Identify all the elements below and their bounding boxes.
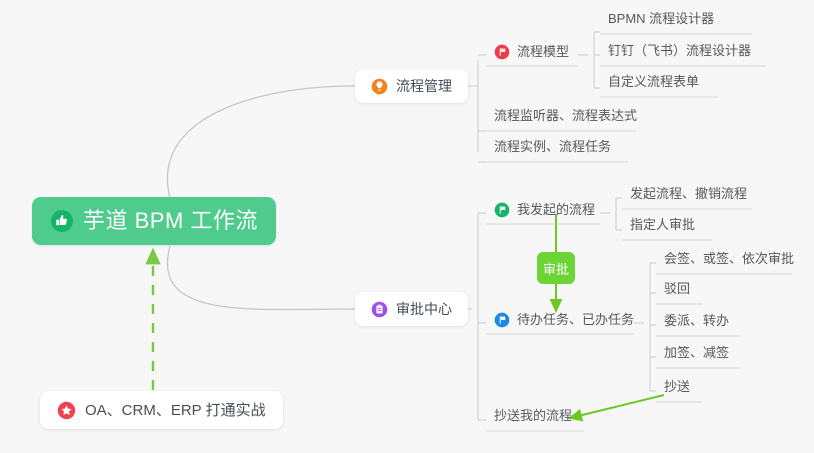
star-icon [57,401,76,420]
branch-node-process-management[interactable]: 流程管理 [355,69,468,103]
clipboard-icon [371,301,388,318]
node-cc-to-me-process[interactable]: 抄送我的流程 [486,409,580,427]
node-bpmn-designer[interactable]: BPMN 流程设计器 [600,12,722,30]
node-process-model[interactable]: 流程模型 [486,44,577,60]
node-label-process-instance-task: 流程实例、流程任务 [494,140,611,154]
node-process-listener-expression[interactable]: 流程监听器、流程表达式 [486,109,645,127]
link-root-to-process-management [167,86,355,198]
node-countersign-orsign-sequential[interactable]: 会签、或签、依次审批 [656,252,802,270]
branch-label-process-management: 流程管理 [396,79,452,93]
bottom-card-label: OA、CRM、ERP 打通实战 [85,403,266,418]
node-label-process-listener-expression: 流程监听器、流程表达式 [494,109,637,123]
node-label-my-initiated-process: 我发起的流程 [517,203,595,217]
node-label-add-remove-sign: 加签、减签 [664,346,729,360]
flag-icon [494,312,510,328]
node-label-dingtalk-feishu-designer: 钉钉（飞书）流程设计器 [608,44,751,58]
node-custom-process-form[interactable]: 自定义流程表单 [600,75,707,93]
node-label-bpmn-designer: BPMN 流程设计器 [608,12,714,26]
node-todo-done-tasks[interactable]: 待办任务、已办任务 [486,312,642,328]
node-label-reject: 驳回 [664,282,690,296]
node-delegate-transfer[interactable]: 委派、转办 [656,314,737,332]
thumbs-up-icon [50,209,74,233]
bottom-card-oa-crm-erp[interactable]: OA、CRM、ERP 打通实战 [40,391,283,429]
root-node[interactable]: 芋道 BPM 工作流 [32,197,276,245]
mindmap-canvas: 芋道 BPM 工作流 流程管理 流程模型 BPMN 流程设计器 钉钉（飞书）流程… [0,0,814,453]
branch-node-approval-center[interactable]: 审批中心 [355,292,468,326]
arrow-cc-to-cc-my-process [570,395,664,418]
node-assignee-approval[interactable]: 指定人审批 [622,218,703,236]
flag-icon [494,44,510,60]
node-process-instance-task[interactable]: 流程实例、流程任务 [486,140,619,158]
node-add-remove-sign[interactable]: 加签、减签 [656,346,737,364]
node-cc[interactable]: 抄送 [656,380,698,398]
flag-icon [494,202,510,218]
node-label-cc-to-me-process: 抄送我的流程 [494,409,572,423]
link-pm-spine [472,60,478,152]
node-dingtalk-feishu-designer[interactable]: 钉钉（飞书）流程设计器 [600,44,759,62]
node-label-process-model: 流程模型 [517,45,569,59]
link-root-to-approval-center [167,246,355,310]
node-start-cancel-process[interactable]: 发起流程、撤销流程 [622,187,755,205]
node-label-todo-done-tasks: 待办任务、已办任务 [517,313,634,327]
lightbulb-icon [371,78,388,95]
approval-badge: 审批 [537,252,575,284]
node-label-assignee-approval: 指定人审批 [630,218,695,232]
node-label-custom-process-form: 自定义流程表单 [608,75,699,89]
node-label-delegate-transfer: 委派、转办 [664,314,729,328]
node-label-countersign-orsign-sequential: 会签、或签、依次审批 [664,252,794,266]
root-label: 芋道 BPM 工作流 [83,210,258,232]
approval-badge-label: 审批 [543,259,569,278]
branch-label-approval-center: 审批中心 [396,302,452,316]
node-my-initiated-process[interactable]: 我发起的流程 [486,202,603,218]
node-reject[interactable]: 驳回 [656,282,698,300]
node-label-start-cancel-process: 发起流程、撤销流程 [630,187,747,201]
node-label-cc: 抄送 [664,380,690,394]
